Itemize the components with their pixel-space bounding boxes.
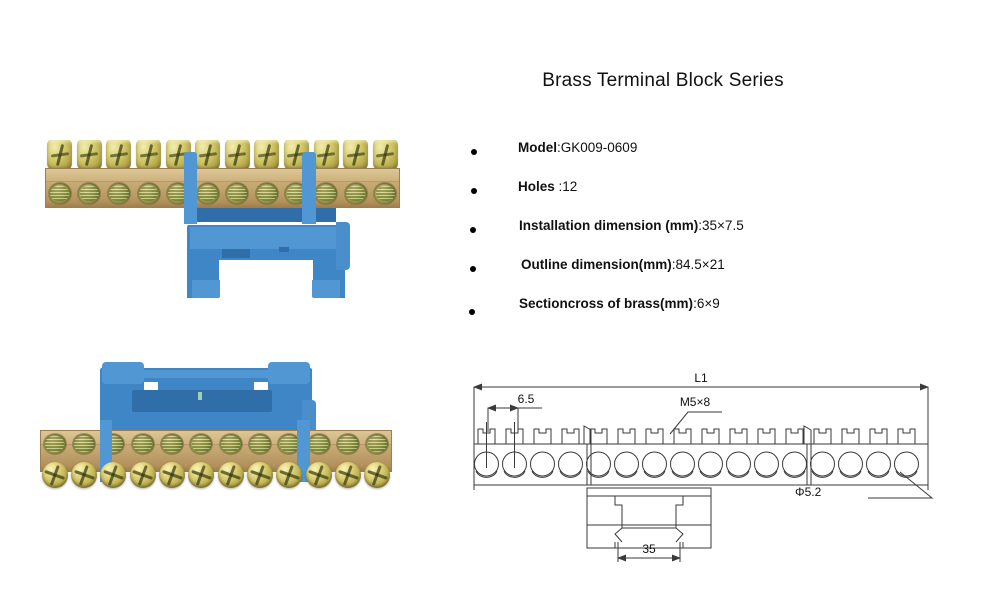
list-item: Holes :12 [463,179,933,218]
drawing-screw [811,429,835,477]
dimension-thread-leader: M5×8 [670,395,722,434]
specification-list: Model:GK009-0609 Holes :12 Installation … [463,140,933,335]
screw-head-rear [130,462,156,488]
drawing-screw [587,429,611,477]
blue-center-mark-rear [198,392,202,400]
bullet-icon [471,188,477,194]
screw-head [136,140,161,170]
blue-side-rib [336,222,350,270]
drawing-screw [895,429,919,477]
threaded-hole-rear [161,434,183,454]
blue-center-mark [279,247,289,252]
dimension-label-L1: L1 [694,371,708,385]
blue-foot-right [312,280,340,298]
blue-notch-left [222,249,250,258]
screw-head-rear [42,462,68,488]
blue-clip-tab-left [102,362,144,384]
screw-head [47,140,72,170]
bullet-icon [470,227,476,233]
screw-head-rear [276,462,302,488]
list-item: Outline dimension(mm):84.5×21 [463,257,933,296]
drawing-screw [839,429,863,477]
spec-holes: Holes :12 [518,179,577,194]
screw-head [77,140,102,170]
terminal-block-rear-view-photo [40,360,420,520]
threaded-hole [108,183,130,204]
drawing-din-clip [587,488,711,548]
threaded-hole-rear [249,434,271,454]
threaded-hole [345,183,367,204]
screw-head [373,140,398,170]
dimension-rail-35: 35 [618,542,680,562]
threaded-hole [256,183,278,204]
threaded-hole [49,183,71,204]
list-item: Installation dimension (mm):35×7.5 [463,218,933,257]
drawing-brass-bar [474,444,928,485]
bullet-icon [470,266,476,272]
page-title: Brass Terminal Block Series [463,70,863,92]
blue-foot-left [192,280,220,298]
threaded-hole-rear [44,434,66,454]
brass-bar-top-face [46,169,399,182]
dimension-label-thread: M5×8 [680,395,711,409]
screw-head-rear [335,462,361,488]
screw-head [225,140,250,170]
blue-clip-tab-right [268,362,310,384]
screw-head [254,140,279,170]
spec-installation-dimension: Installation dimension (mm):35×7.5 [519,218,744,233]
drawing-screw [755,429,779,477]
blue-inner-recess [132,390,272,412]
screw-head [343,140,368,170]
threaded-hole-rear [220,434,242,454]
screw-head-rear [188,462,214,488]
spec-sectioncross: Sectioncross of brass(mm):6×9 [519,296,720,311]
screw-head-rear [218,462,244,488]
dimension-label-hole: Φ5.2 [795,485,822,499]
threaded-hole-rear [132,434,154,454]
technical-drawing: L1 6.5 M5×8 [460,360,940,575]
drawing-screw [699,429,723,477]
screw-head [195,140,220,170]
screw-head-rear [100,462,126,488]
dimension-label-pitch: 6.5 [518,392,535,406]
drawing-screw [783,429,807,477]
drawing-screw [643,429,667,477]
product-spec-page: Brass Terminal Block Series Model:GK009-… [0,0,1000,600]
threaded-hole-rear [337,434,359,454]
blue-housing-top-face [190,227,342,249]
screw-head-rear [306,462,332,488]
screw-head [106,140,131,170]
list-item: Model:GK009-0609 [463,140,933,179]
screw-head-rear [71,462,97,488]
threaded-hole [197,183,219,204]
drawing-screw [531,429,555,477]
terminal-block-front-view-photo [40,130,420,300]
list-item: Sectioncross of brass(mm):6×9 [463,296,933,335]
threaded-hole [315,183,337,204]
drawing-screw [615,429,639,477]
threaded-hole [138,183,160,204]
drawing-screw [727,429,751,477]
drawing-screw [867,429,891,477]
din-rail-opening [218,260,314,288]
drawing-screw [559,429,583,477]
bullet-icon [469,309,475,315]
spec-outline-dimension: Outline dimension(mm):84.5×21 [521,257,725,272]
threaded-hole-rear [308,434,330,454]
dimension-label-rail: 35 [642,542,656,556]
blue-post-left-front [184,168,197,224]
screw-head-rear [247,462,273,488]
drawing-screw [671,429,695,477]
bullet-icon [471,149,477,155]
drawing-screw-group [475,429,919,477]
blue-post-right-front [302,168,316,224]
spec-model: Model:GK009-0609 [518,140,637,155]
screw-head-rear [364,462,390,488]
screw-head [314,140,339,170]
threaded-hole-rear [73,434,95,454]
screw-head-rear [159,462,185,488]
